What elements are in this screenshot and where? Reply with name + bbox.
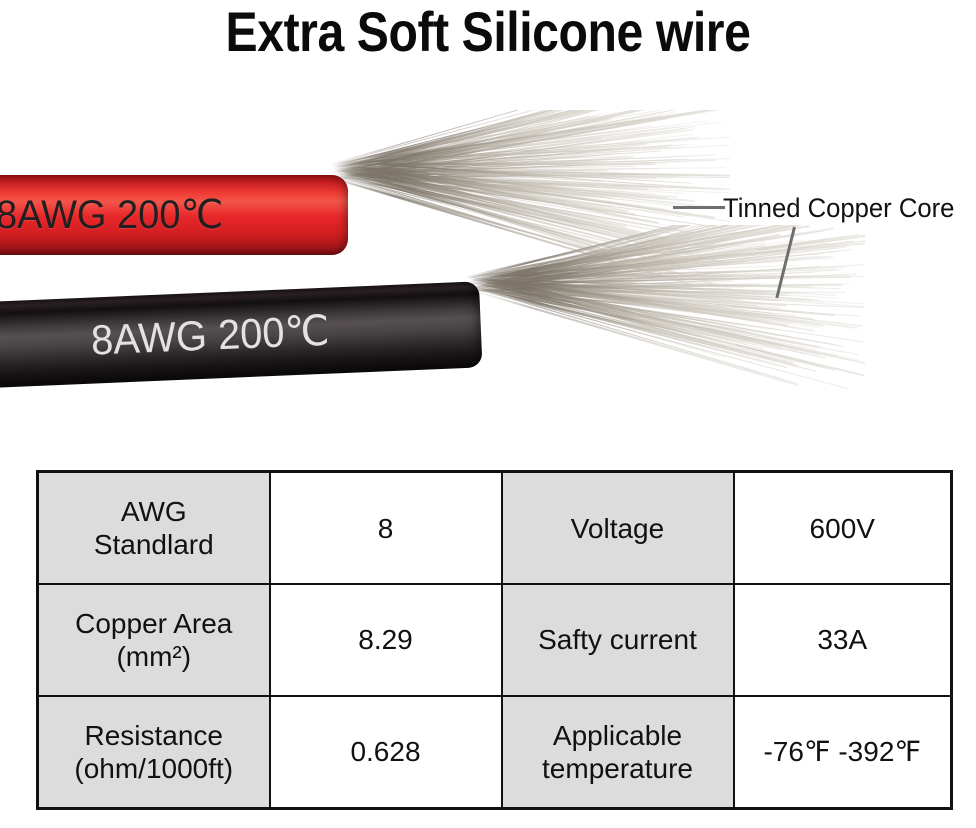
spec-value-awg: 8 <box>270 472 502 585</box>
callout-label: Tinned Copper Core <box>723 193 954 223</box>
spec-key-voltage: Voltage <box>502 472 734 585</box>
specification-table: AWGStandlard 8 Voltage 600V Copper Area(… <box>36 470 953 810</box>
spec-value-resistance: 0.628 <box>270 696 502 809</box>
product-photo: 8AWG 200℃ 8AWG 200℃ Tinned Copper Core <box>0 70 976 450</box>
spec-value-copper-area: 8.29 <box>270 584 502 696</box>
spec-value-safety-current: 33A <box>734 584 952 696</box>
table-row: AWGStandlard 8 Voltage 600V <box>38 472 952 585</box>
red-wire: 8AWG 200℃ <box>0 175 348 255</box>
red-wire-label: 8AWG 200℃ <box>0 194 223 236</box>
spec-value-temperature: -76℉ -392℉ <box>734 696 952 809</box>
spec-key-copper-area: Copper Area(mm²) <box>38 584 270 696</box>
callout-leader-line-red <box>673 206 725 209</box>
spec-key-safety-current: Safty current <box>502 584 734 696</box>
spec-key-awg: AWGStandlard <box>38 472 270 585</box>
spec-key-temperature: Applicabletemperature <box>502 696 734 809</box>
spec-value-voltage: 600V <box>734 472 952 585</box>
black-wire-wrapper: 8AWG 200℃ <box>0 267 488 398</box>
black-wire: 8AWG 200℃ <box>0 281 482 388</box>
table-row: Copper Area(mm²) 8.29 Safty current 33A <box>38 584 952 696</box>
tinned-copper-strands-black <box>465 225 865 405</box>
spec-key-resistance: Resistance(ohm/1000ft) <box>38 696 270 809</box>
black-wire-label: 8AWG 200℃ <box>90 309 330 363</box>
table-row: Resistance(ohm/1000ft) 0.628 Applicablet… <box>38 696 952 809</box>
page-title: Extra Soft Silicone wire <box>68 2 907 62</box>
